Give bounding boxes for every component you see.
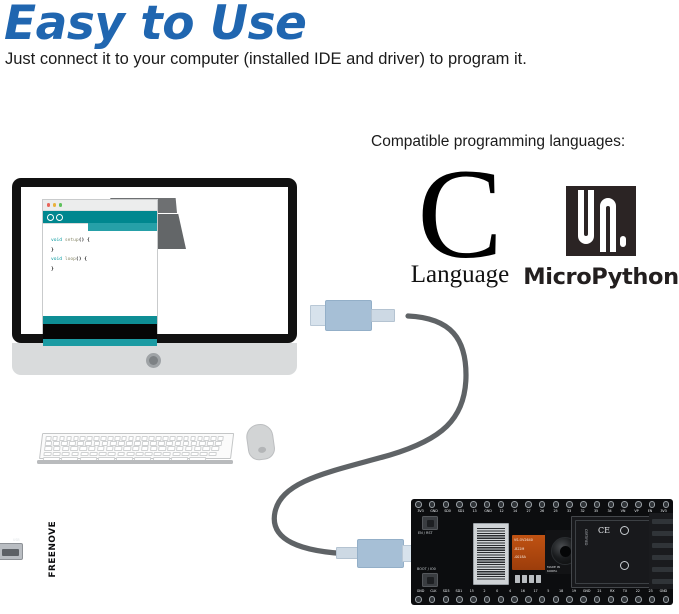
keyboard-key[interactable] bbox=[101, 441, 108, 445]
pin-label: 21 bbox=[594, 589, 605, 593]
keyboard-key[interactable] bbox=[88, 446, 96, 450]
pin-pad[interactable] bbox=[429, 501, 436, 508]
keyboard-key[interactable] bbox=[100, 436, 106, 440]
micro-usb-strain-relief bbox=[336, 547, 359, 559]
keyboard-key[interactable] bbox=[209, 452, 217, 456]
keyboard-key[interactable] bbox=[61, 441, 68, 445]
pin-pad[interactable] bbox=[621, 596, 628, 603]
keyboard-key[interactable] bbox=[79, 446, 87, 450]
pin-pad[interactable] bbox=[553, 501, 560, 508]
pin-label: 32 bbox=[577, 509, 588, 513]
pin-pad[interactable] bbox=[635, 596, 642, 603]
keyboard-key[interactable] bbox=[66, 436, 72, 440]
usb-a-strain-relief bbox=[371, 309, 395, 322]
camera-marking: MADE INKOREA bbox=[547, 566, 560, 573]
keyboard-key[interactable] bbox=[85, 441, 92, 445]
keyboard-key[interactable] bbox=[93, 436, 99, 440]
pin-pad[interactable] bbox=[484, 501, 491, 508]
usb-a-shell bbox=[325, 300, 372, 331]
pin-pad[interactable] bbox=[608, 596, 615, 603]
keyboard-key[interactable] bbox=[190, 441, 197, 445]
pin-pad[interactable] bbox=[443, 501, 450, 508]
keyboard-key[interactable] bbox=[45, 436, 51, 440]
pin-pad[interactable] bbox=[580, 501, 587, 508]
pin-pad[interactable] bbox=[553, 596, 560, 603]
verify-button-icon[interactable] bbox=[47, 214, 54, 221]
keyboard-key[interactable] bbox=[134, 441, 141, 445]
keyboard-key[interactable] bbox=[185, 446, 193, 450]
arduino-ide-window[interactable]: void setup() { } void loop() { } bbox=[42, 199, 158, 334]
module-barcode-text: CERTIFIED bbox=[584, 529, 588, 545]
keyboard-key[interactable] bbox=[194, 446, 202, 450]
pin-pad[interactable] bbox=[594, 596, 601, 603]
keyboard-key[interactable] bbox=[53, 441, 60, 445]
pin-pad[interactable] bbox=[456, 596, 463, 603]
zoom-button-icon[interactable] bbox=[59, 203, 62, 206]
pin-label: SD3 bbox=[441, 589, 452, 593]
keyboard-key[interactable] bbox=[162, 436, 168, 440]
header-bar bbox=[652, 543, 673, 548]
pin-label: 34 bbox=[604, 509, 615, 513]
code-bracket: () { bbox=[79, 238, 90, 243]
pin-pad[interactable] bbox=[608, 501, 615, 508]
header-bar bbox=[652, 555, 673, 560]
keyboard-key[interactable] bbox=[43, 452, 51, 456]
page-subtitle: Just connect it to your computer (instal… bbox=[5, 50, 527, 69]
code-bracket: () { bbox=[76, 257, 87, 262]
keyboard-key[interactable] bbox=[149, 436, 155, 440]
board-usb-silk-label: USB bbox=[13, 538, 20, 542]
keyboard-key[interactable] bbox=[154, 452, 162, 456]
keyboard-key[interactable] bbox=[97, 446, 105, 450]
keyboard-key[interactable] bbox=[44, 446, 52, 450]
code-function: setup bbox=[65, 238, 79, 243]
pin-label: 18 bbox=[556, 589, 567, 593]
code-keyword: void bbox=[51, 238, 65, 243]
pin-label: 17 bbox=[530, 589, 541, 593]
keyboard-key[interactable] bbox=[202, 446, 210, 450]
keyboard-key[interactable] bbox=[182, 441, 189, 445]
keyboard-key[interactable] bbox=[114, 436, 120, 440]
keyboard-key[interactable] bbox=[144, 452, 152, 456]
header-bar bbox=[652, 579, 673, 584]
keyboard-key[interactable] bbox=[200, 452, 208, 456]
fcc-mark-icon bbox=[620, 526, 629, 535]
board-right-header-block bbox=[649, 513, 673, 589]
pin-label: VN bbox=[618, 509, 629, 513]
pin-label: SD0 bbox=[442, 509, 453, 513]
pin-label: GND bbox=[483, 509, 494, 513]
keyboard-key[interactable] bbox=[62, 446, 70, 450]
keyboard[interactable] bbox=[37, 433, 233, 465]
keyboard-key[interactable] bbox=[108, 452, 116, 456]
pin-pad[interactable] bbox=[511, 596, 518, 603]
keyboard-key[interactable] bbox=[176, 436, 182, 440]
keyboard-key[interactable] bbox=[197, 436, 203, 440]
keyboard-key[interactable] bbox=[107, 436, 113, 440]
pin-pad[interactable] bbox=[566, 501, 573, 508]
pin-label: CLK bbox=[428, 589, 439, 593]
micropython-logo-icon bbox=[566, 186, 636, 256]
keyboard-key[interactable] bbox=[142, 441, 149, 445]
pin-label: 25 bbox=[550, 509, 561, 513]
camera-fpc-connector bbox=[473, 523, 509, 585]
pin-label: 3V3 bbox=[415, 509, 426, 513]
keyboard-key[interactable] bbox=[218, 436, 224, 440]
keyboard-key[interactable] bbox=[169, 436, 175, 440]
keyboard-key[interactable] bbox=[166, 441, 173, 445]
usb-a-metal-tip bbox=[310, 305, 326, 326]
keyboard-key[interactable] bbox=[71, 452, 79, 456]
ide-footer-bar bbox=[43, 339, 157, 346]
keyboard-base bbox=[37, 460, 233, 464]
pin-pad[interactable] bbox=[649, 596, 656, 603]
pin-pad[interactable] bbox=[566, 596, 573, 603]
enable-reset-button[interactable] bbox=[422, 516, 438, 530]
ide-status-bar bbox=[43, 316, 157, 324]
pin-pad[interactable] bbox=[470, 501, 477, 508]
upload-button-icon[interactable] bbox=[56, 214, 63, 221]
keyboard-key[interactable] bbox=[70, 446, 78, 450]
esp32-dev-board: 3V3GNDSD0SD113GND121427262533323534VNVPE… bbox=[411, 499, 673, 605]
c-letter-icon: C bbox=[400, 150, 520, 278]
pin-label: 5 bbox=[543, 589, 554, 593]
board-micro-usb-port[interactable] bbox=[0, 543, 23, 560]
pin-pad[interactable] bbox=[470, 596, 477, 603]
capacitor bbox=[522, 575, 527, 583]
boot-io0-button[interactable] bbox=[422, 573, 438, 587]
pin-pad[interactable] bbox=[415, 501, 422, 508]
keyboard-key[interactable] bbox=[87, 436, 93, 440]
keyboard-key[interactable] bbox=[174, 441, 181, 445]
keyboard-key[interactable] bbox=[117, 441, 124, 445]
ide-tab-strip[interactable] bbox=[43, 223, 157, 231]
pin-pad[interactable] bbox=[635, 501, 642, 508]
keyboard-key[interactable] bbox=[167, 446, 175, 450]
pin-labels-top: 3V3GNDSD0SD113GND121427262533323534VNVPE… bbox=[415, 509, 669, 513]
ide-toolbar[interactable] bbox=[43, 211, 157, 223]
pin-pad[interactable] bbox=[594, 501, 601, 508]
pin-label: 2 bbox=[479, 589, 490, 593]
pin-label: 35 bbox=[591, 509, 602, 513]
close-button-icon[interactable] bbox=[47, 203, 50, 206]
capacitor bbox=[515, 575, 520, 583]
keyboard-key[interactable] bbox=[126, 441, 133, 445]
pin-labels-bottom: GNDCLKSD3SD115204161751819GND21RXTX2223G… bbox=[415, 589, 669, 593]
keyboard-key[interactable] bbox=[128, 436, 134, 440]
keyboard-key[interactable] bbox=[190, 436, 196, 440]
keyboard-row[interactable] bbox=[45, 436, 223, 440]
keyboard-key[interactable] bbox=[53, 446, 61, 450]
pin-pad[interactable] bbox=[511, 501, 518, 508]
pin-label: 0 bbox=[492, 589, 503, 593]
keyboard-key[interactable] bbox=[207, 441, 214, 445]
header-bar bbox=[652, 531, 673, 536]
board-model-label: ESP32-WROVER-DEV bbox=[35, 516, 53, 614]
keyboard-key[interactable] bbox=[150, 446, 158, 450]
code-function: loop bbox=[65, 257, 76, 262]
keyboard-key[interactable] bbox=[181, 452, 189, 456]
keyboard-key[interactable] bbox=[62, 452, 70, 456]
header-bar bbox=[652, 567, 673, 572]
pin-pad[interactable] bbox=[498, 596, 505, 603]
ide-titlebar[interactable] bbox=[43, 200, 157, 211]
pin-pad[interactable] bbox=[429, 596, 436, 603]
keyboard-key[interactable] bbox=[126, 452, 134, 456]
keyboard-key[interactable] bbox=[77, 441, 84, 445]
ide-code-editor[interactable]: void setup() { } void loop() { } bbox=[43, 231, 157, 316]
capacitor bbox=[529, 575, 534, 583]
code-line: } bbox=[51, 246, 157, 256]
keyboard-key[interactable] bbox=[190, 452, 198, 456]
micropython-label: MicroPython bbox=[515, 264, 679, 290]
pin-pad[interactable] bbox=[649, 501, 656, 508]
ide-active-tab[interactable] bbox=[43, 223, 88, 232]
keyboard-row[interactable] bbox=[45, 441, 222, 445]
pin-label: 27 bbox=[523, 509, 534, 513]
code-line: void setup() { bbox=[51, 236, 157, 246]
keyboard-row[interactable] bbox=[44, 446, 219, 450]
pin-pad[interactable] bbox=[415, 596, 422, 603]
keyboard-key[interactable] bbox=[93, 441, 100, 445]
keyboard-key[interactable] bbox=[109, 441, 116, 445]
keyboard-key[interactable] bbox=[89, 452, 97, 456]
keyboard-key[interactable] bbox=[135, 452, 143, 456]
keyboard-key[interactable] bbox=[121, 436, 127, 440]
page-title: Easy to Use bbox=[4, 0, 306, 51]
keyboard-key[interactable] bbox=[53, 452, 61, 456]
keyboard-key[interactable] bbox=[204, 436, 210, 440]
pin-label: SD1 bbox=[453, 589, 464, 593]
rohs-mark-icon bbox=[620, 561, 629, 570]
keyboard-key[interactable] bbox=[141, 446, 149, 450]
pin-label: 26 bbox=[537, 509, 548, 513]
keyboard-key[interactable] bbox=[106, 446, 114, 450]
keyboard-key[interactable] bbox=[80, 436, 86, 440]
keyboard-key[interactable] bbox=[117, 452, 125, 456]
pin-pad[interactable] bbox=[456, 501, 463, 508]
pin-label: SD1 bbox=[456, 509, 467, 513]
pin-pad[interactable] bbox=[498, 501, 505, 508]
pin-label: 22 bbox=[632, 589, 643, 593]
pin-label: RX bbox=[607, 589, 618, 593]
keyboard-key[interactable] bbox=[211, 446, 219, 450]
pin-pad[interactable] bbox=[663, 596, 670, 603]
pin-pad[interactable] bbox=[525, 596, 532, 603]
keyboard-key[interactable] bbox=[135, 436, 141, 440]
code-line: } bbox=[51, 265, 157, 275]
keyboard-key[interactable] bbox=[73, 436, 79, 440]
pin-header-bottom[interactable] bbox=[415, 596, 669, 603]
micro-usb-shell bbox=[357, 539, 404, 568]
pin-pad[interactable] bbox=[539, 501, 546, 508]
keyboard-key[interactable] bbox=[142, 436, 148, 440]
pin-label: GND bbox=[658, 589, 669, 593]
keyboard-key[interactable] bbox=[80, 452, 88, 456]
keyboard-key[interactable] bbox=[45, 441, 52, 445]
ce-mark-icon: CE bbox=[598, 526, 610, 535]
header-bar bbox=[652, 519, 673, 524]
pin-pad[interactable] bbox=[663, 501, 670, 508]
keyboard-key[interactable] bbox=[150, 441, 157, 445]
pin-label: 23 bbox=[645, 589, 656, 593]
pin-pad[interactable] bbox=[484, 596, 491, 603]
ide-console-output bbox=[43, 324, 157, 339]
pin-label: 19 bbox=[568, 589, 579, 593]
pin-pad[interactable] bbox=[539, 596, 546, 603]
pin-label: 12 bbox=[496, 509, 507, 513]
pin-label: GND bbox=[429, 509, 440, 513]
pin-label: GND bbox=[581, 589, 592, 593]
pin-label: 4 bbox=[504, 589, 515, 593]
keyboard-key[interactable] bbox=[156, 436, 162, 440]
code-line: void loop() { bbox=[51, 255, 157, 265]
keyboard-key[interactable] bbox=[215, 441, 222, 445]
pin-pad[interactable] bbox=[525, 501, 532, 508]
c-language-logo: C Language bbox=[400, 166, 520, 286]
keyboard-key[interactable] bbox=[59, 436, 65, 440]
pin-label: GND bbox=[415, 589, 426, 593]
keyboard-key[interactable] bbox=[99, 452, 107, 456]
monitor-logo-icon bbox=[146, 353, 161, 368]
keyboard-key[interactable] bbox=[163, 452, 171, 456]
keyboard-key[interactable] bbox=[183, 436, 189, 440]
pin-label: 15 bbox=[466, 589, 477, 593]
keyboard-key[interactable] bbox=[123, 446, 131, 450]
pin-label: 16 bbox=[517, 589, 528, 593]
code-keyword: void bbox=[51, 257, 65, 262]
keyboard-key[interactable] bbox=[176, 446, 184, 450]
code-bracket: } bbox=[51, 267, 54, 272]
pin-label: TX bbox=[620, 589, 631, 593]
micropython-glyph bbox=[566, 186, 636, 256]
keyboard-key[interactable] bbox=[211, 436, 217, 440]
keyboard-body[interactable] bbox=[39, 433, 234, 459]
pin-label: VP bbox=[631, 509, 642, 513]
keyboard-key[interactable] bbox=[158, 441, 165, 445]
keyboard-key[interactable] bbox=[69, 441, 76, 445]
enable-reset-label: EN / RST bbox=[418, 531, 433, 535]
keyboard-key[interactable] bbox=[114, 446, 122, 450]
pin-label: 13 bbox=[469, 509, 480, 513]
keyboard-key[interactable] bbox=[52, 436, 58, 440]
pin-pad[interactable] bbox=[580, 596, 587, 603]
keyboard-key[interactable] bbox=[132, 446, 140, 450]
led-group bbox=[515, 575, 541, 583]
c-language-label: Language bbox=[395, 261, 525, 289]
keyboard-key[interactable] bbox=[198, 441, 205, 445]
mouse[interactable] bbox=[245, 422, 277, 461]
pin-pad[interactable] bbox=[621, 501, 628, 508]
capacitor bbox=[536, 575, 541, 583]
keyboard-row[interactable] bbox=[43, 452, 217, 456]
pin-label: 14 bbox=[510, 509, 521, 513]
usb-a-connector bbox=[310, 299, 410, 331]
pin-pad[interactable] bbox=[443, 596, 450, 603]
keyboard-key[interactable] bbox=[158, 446, 166, 450]
pin-label: 33 bbox=[564, 509, 575, 513]
keyboard-key[interactable] bbox=[172, 452, 180, 456]
pin-header-top[interactable] bbox=[415, 501, 669, 508]
minimize-button-icon[interactable] bbox=[53, 203, 56, 206]
code-bracket: } bbox=[51, 248, 54, 253]
boot-io0-label: BOOT / IO0 bbox=[417, 567, 436, 571]
